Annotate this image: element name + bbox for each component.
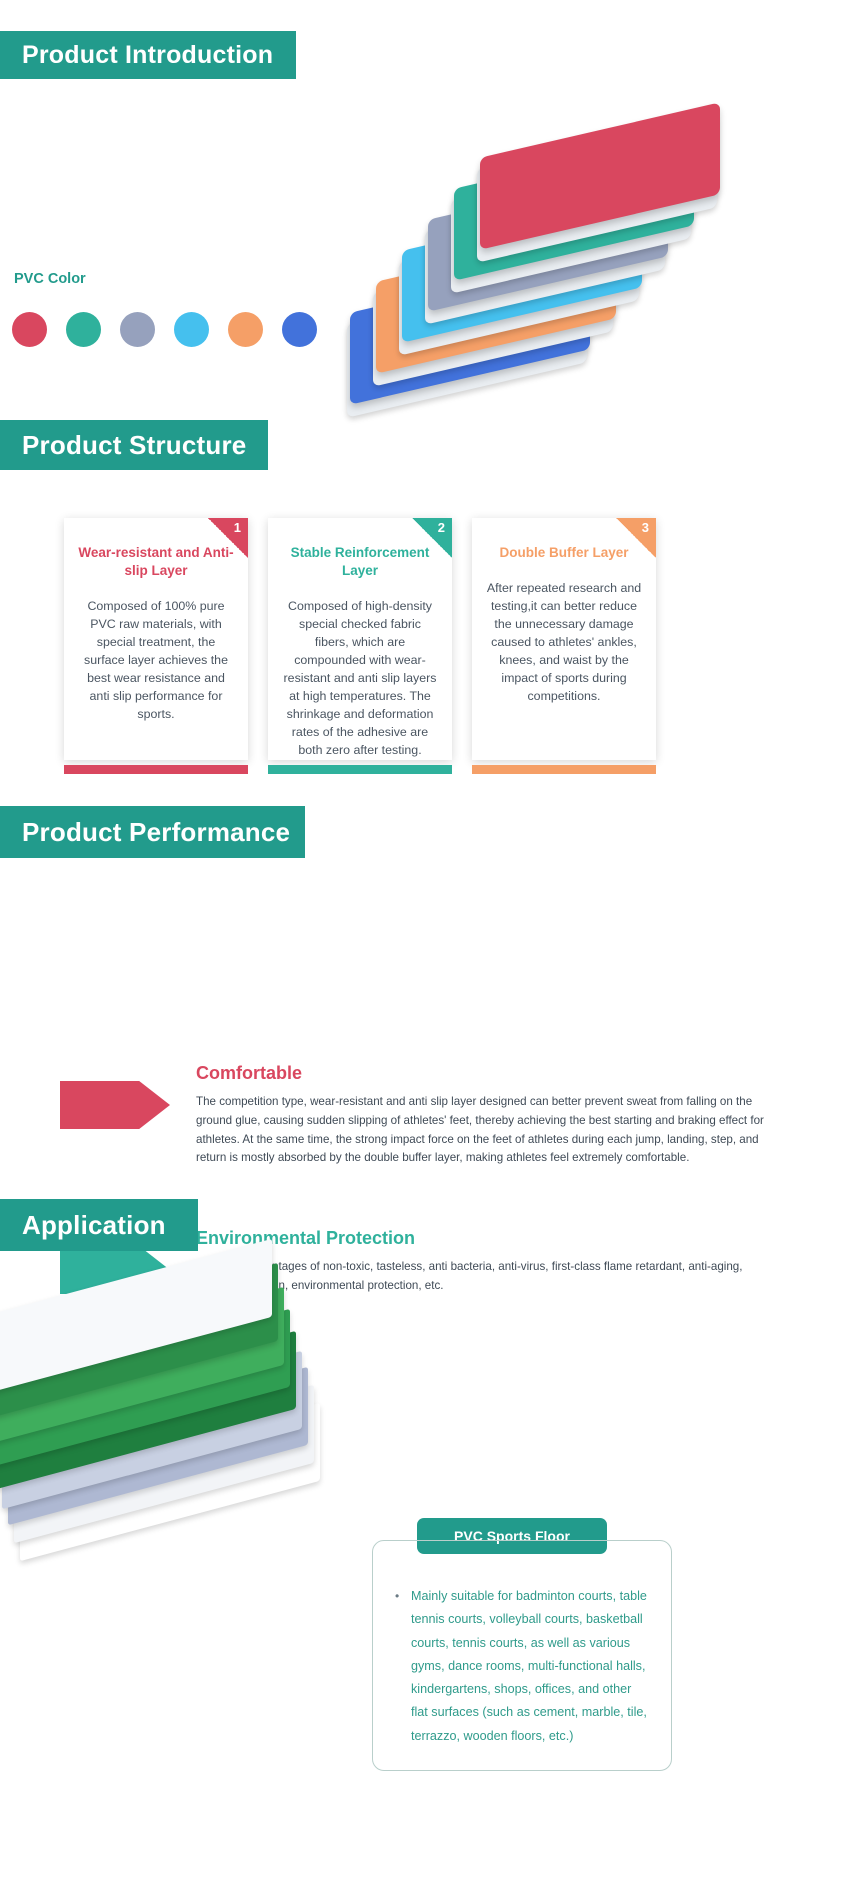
color-swatch-teal[interactable] — [66, 312, 101, 347]
color-swatch-sky-blue[interactable] — [174, 312, 209, 347]
structure-card: 2Stable Reinforcement LayerComposed of h… — [268, 518, 452, 760]
structure-card-accent-bar — [472, 765, 656, 774]
structure-card: 3Double Buffer LayerAfter repeated resea… — [472, 518, 656, 760]
banner-label: Product Performance — [22, 817, 290, 848]
structure-card-accent-bar — [268, 765, 452, 774]
structure-card-number-badge: 3 — [616, 518, 656, 558]
banner-label: Product Introduction — [22, 41, 273, 70]
pvc-color-label: PVC Color — [14, 271, 86, 287]
structure-card-number-badge: 2 — [412, 518, 452, 558]
structure-card-body: Composed of high-density special checked… — [282, 598, 438, 760]
performance-item: ComfortableThe competition type, wear-re… — [196, 1063, 766, 1168]
structure-card: 1Wear-resistant and Anti-slip LayerCompo… — [64, 518, 248, 760]
color-swatch-royal-blue[interactable] — [282, 312, 317, 347]
floor-slab-stack-illustration — [350, 95, 830, 385]
application-floor-layers-illustration — [0, 1275, 340, 1535]
section-banner-introduction: Product Introduction — [0, 31, 296, 79]
section-banner-performance: Product Performance — [0, 806, 305, 858]
banner-label: Application — [22, 1210, 166, 1241]
application-bullet-list: Mainly suitable for badminton courts, ta… — [393, 1585, 651, 1748]
performance-heading: Environmental Protection — [196, 1228, 756, 1249]
section-banner-structure: Product Structure — [0, 420, 268, 470]
banner-label: Product Structure — [22, 430, 246, 461]
application-bullet-item: Mainly suitable for badminton courts, ta… — [393, 1585, 651, 1748]
structure-card-list: 1Wear-resistant and Anti-slip LayerCompo… — [64, 518, 656, 760]
performance-arrow-marker — [60, 1081, 170, 1129]
structure-card-number: 3 — [642, 520, 649, 535]
section-banner-application: Application — [0, 1199, 198, 1251]
color-swatch-crimson[interactable] — [12, 312, 47, 347]
color-swatch-orange[interactable] — [228, 312, 263, 347]
structure-card-accent-bar — [64, 765, 248, 774]
application-card: Mainly suitable for badminton courts, ta… — [372, 1540, 672, 1771]
structure-card-number: 2 — [438, 520, 445, 535]
performance-body: The competition type, wear-resistant and… — [196, 1093, 766, 1168]
structure-card-number-badge: 1 — [208, 518, 248, 558]
color-swatch-slate-blue[interactable] — [120, 312, 155, 347]
structure-card-body: After repeated research and testing,it c… — [486, 580, 642, 706]
structure-card-body: Composed of 100% pure PVC raw materials,… — [78, 598, 234, 724]
structure-card-number: 1 — [234, 520, 241, 535]
performance-heading: Comfortable — [196, 1063, 766, 1084]
pvc-color-swatch-row — [12, 312, 317, 347]
